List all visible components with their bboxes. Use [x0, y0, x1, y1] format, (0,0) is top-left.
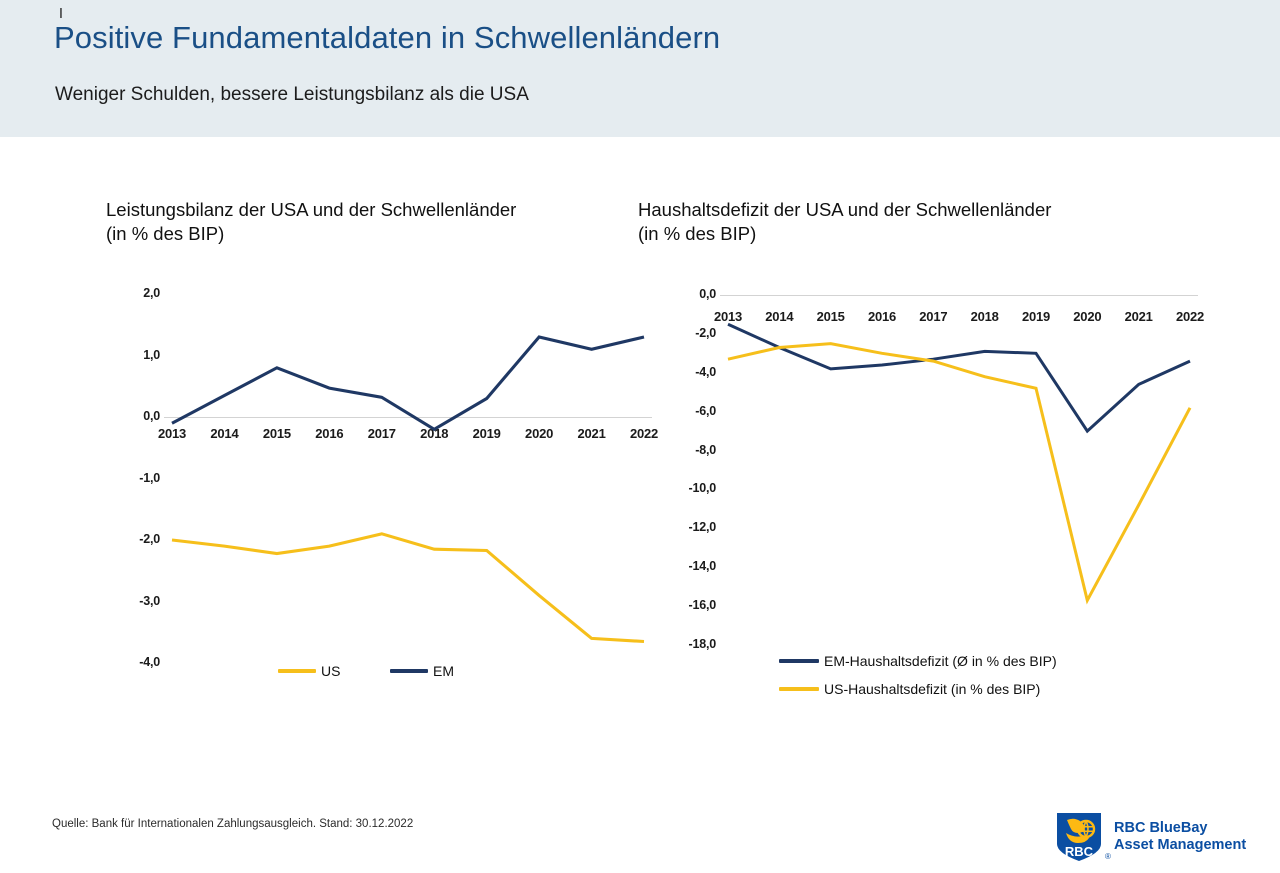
- chart-series-right: [638, 285, 1208, 660]
- rbc-shield-icon: RBC ®: [1055, 812, 1103, 862]
- series-line-us: [172, 534, 644, 642]
- legend-item: US-Haushaltsdefizit (in % des BIP): [779, 681, 1040, 697]
- series-line-em: [728, 324, 1190, 431]
- source-note: Quelle: Bank für Internationalen Zahlung…: [52, 818, 413, 830]
- chart-panel-haushaltsdefizit: Haushaltsdefizit der USA und der Schwell…: [638, 198, 1198, 246]
- svg-text:RBC: RBC: [1065, 844, 1094, 859]
- series-line-us: [728, 344, 1190, 601]
- chart-series-left: [106, 285, 626, 675]
- slide-canvas: I Positive Fundamentaldaten in Schwellen…: [0, 0, 1280, 873]
- legend-swatch-icon: [779, 687, 819, 691]
- series-line-em: [172, 337, 644, 429]
- logo-line-2: Asset Management: [1114, 837, 1246, 854]
- page-subtitle: Weniger Schulden, bessere Leistungsbilan…: [55, 84, 529, 106]
- logo-line-1: RBC BlueBay: [1114, 820, 1246, 837]
- chart-panel-leistungsbilanz: Leistungsbilanz der USA und der Schwelle…: [106, 198, 626, 246]
- page-title: Positive Fundamentaldaten in Schwellenlä…: [54, 20, 720, 56]
- chart-plot-leistungsbilanz: 2,01,00,0-1,0-2,0-3,0-4,0 20132014201520…: [106, 285, 626, 675]
- legend-label: US-Haushaltsdefizit (in % des BIP): [824, 681, 1040, 697]
- registered-trademark-icon: ®: [1105, 852, 1111, 861]
- logo-wordmark: RBC BlueBay Asset Management: [1114, 820, 1246, 854]
- chart-title-leistungsbilanz: Leistungsbilanz der USA und der Schwelle…: [106, 198, 626, 246]
- chart-title-haushaltsdefizit: Haushaltsdefizit der USA und der Schwell…: [638, 198, 1198, 246]
- chart-plot-haushaltsdefizit: 0,0-2,0-4,0-6,0-8,0-10,0-12,0-14,0-16,0-…: [638, 285, 1208, 660]
- rbc-bluebay-logo: RBC ® RBC BlueBay Asset Management: [1055, 812, 1246, 862]
